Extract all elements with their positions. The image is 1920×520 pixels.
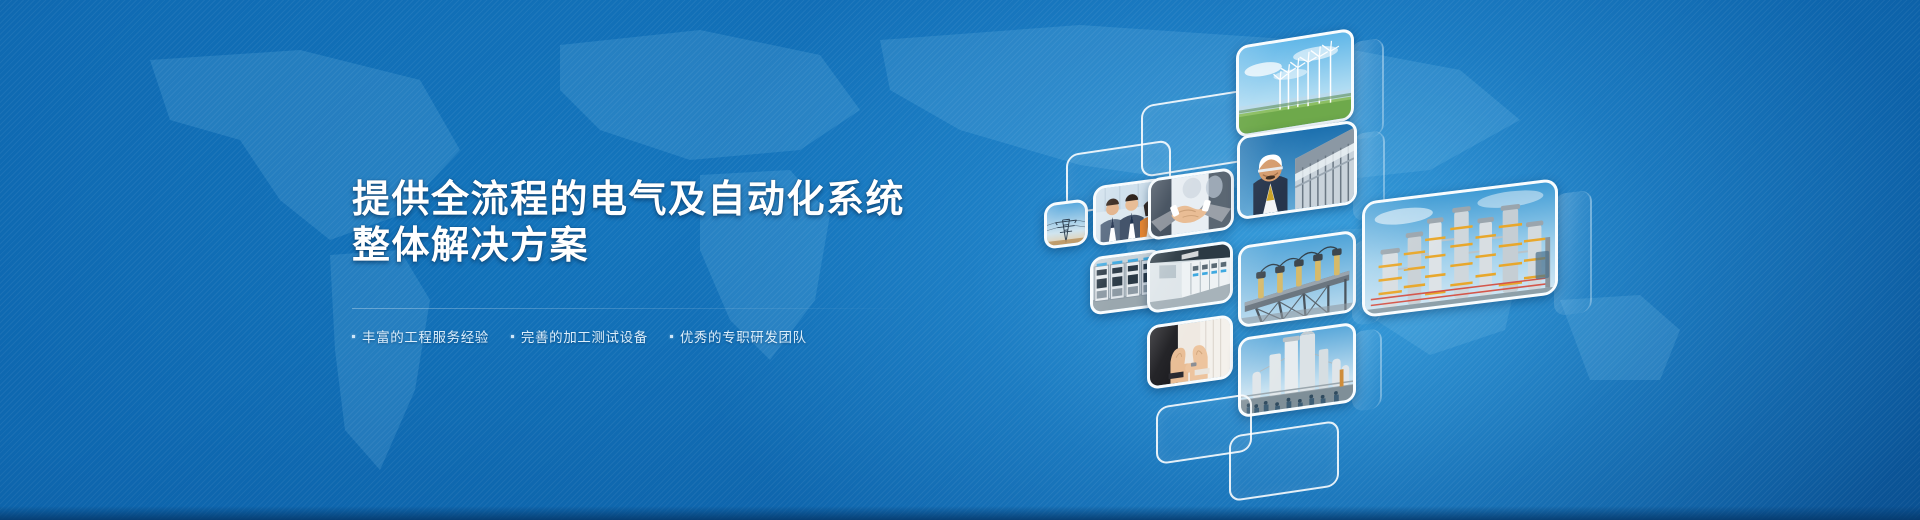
feature-bullet-3: 优秀的专职研发团队 <box>670 326 807 346</box>
thumbs-up-photo <box>1150 317 1230 386</box>
hero-banner: 提供全流程的电气及自动化系统 整体解决方案 丰富的工程服务经验 完善的加工测试设… <box>0 0 1920 520</box>
power-pylon-photo <box>1047 202 1085 247</box>
page-title: 提供全流程的电气及自动化系统 整体解决方案 <box>352 176 992 268</box>
collage-tile-engineer-site[interactable] <box>1237 120 1357 221</box>
gas-plant-photo <box>1241 325 1353 415</box>
bullet-dot-icon <box>511 335 514 338</box>
feature-bullet-2: 完善的加工测试设备 <box>511 326 648 346</box>
divider <box>352 308 912 309</box>
wind-farm-photo <box>1239 31 1351 135</box>
bullet-dot-icon <box>352 335 355 338</box>
collage-reflection-gas-plant <box>1352 328 1382 412</box>
collage-tile-handshake[interactable] <box>1148 167 1234 241</box>
feature-bullet-3-label: 优秀的专职研发团队 <box>680 326 807 346</box>
feature-bullet-1-label: 丰富的工程服务经验 <box>362 326 489 346</box>
headline-line-1: 提供全流程的电气及自动化系统 <box>352 176 992 222</box>
feature-bullet-1: 丰富的工程服务经验 <box>352 326 489 346</box>
collage-tile-switchgear[interactable] <box>1147 240 1233 314</box>
bullet-dot-icon <box>670 335 673 338</box>
collage-reflection-refinery <box>1554 190 1592 317</box>
feature-bullet-2-label: 完善的加工测试设备 <box>521 326 648 346</box>
refinery-photo <box>1365 181 1555 314</box>
collage-tile-refinery-big[interactable] <box>1362 178 1558 318</box>
headline-line-2: 整体解决方案 <box>352 222 992 268</box>
collage-tile-gas-plant[interactable] <box>1238 322 1356 419</box>
handshake-photo <box>1151 170 1231 237</box>
collage-tile-power-pylon[interactable] <box>1044 198 1088 249</box>
substation-photo <box>1241 233 1353 325</box>
engineer-site-photo <box>1240 123 1354 217</box>
banner-copy: 提供全流程的电气及自动化系统 整体解决方案 丰富的工程服务经验 完善的加工测试设… <box>352 176 992 346</box>
feature-bullet-list: 丰富的工程服务经验 完善的加工测试设备 优秀的专职研发团队 <box>352 326 992 346</box>
switchgear-hall-photo <box>1150 243 1230 310</box>
collage-tile-thumbs-up[interactable] <box>1147 314 1233 390</box>
collage-tile-substation[interactable] <box>1238 230 1356 329</box>
